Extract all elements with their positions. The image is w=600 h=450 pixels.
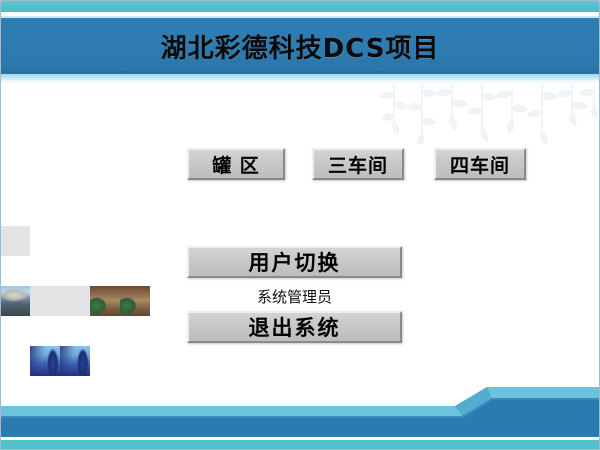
exit-system-button[interactable]: 退出系统 [187, 311, 402, 343]
dcs-project-screen: 湖北彩德科技DCS项目 [0, 0, 600, 450]
hanging-vine-watermark [378, 82, 600, 144]
nav-button-tank-area[interactable]: 罐 区 [187, 148, 285, 180]
placeholder-tile-2 [30, 286, 60, 316]
green-plant-photo-tile-2 [120, 286, 150, 316]
bottom-ribbon-shape [0, 386, 600, 450]
tank-photo-tile [0, 286, 30, 316]
top-teal-accent-bar [0, 0, 600, 12]
user-switch-button[interactable]: 用户切换 [187, 246, 402, 278]
bottom-ribbon [0, 386, 600, 450]
page-title: 湖北彩德科技DCS项目 [0, 18, 600, 74]
nav-button-workshop-3[interactable]: 三车间 [312, 148, 404, 180]
green-plant-photo-tile [90, 286, 120, 316]
blue-tower-photo-tile [30, 346, 60, 376]
nav-button-workshop-4[interactable]: 四车间 [434, 148, 526, 180]
photo-mosaic [0, 226, 160, 406]
current-user-role-label: 系统管理员 [187, 286, 402, 307]
placeholder-tile-3 [60, 286, 90, 316]
blue-tower-photo-tile-2 [60, 346, 90, 376]
placeholder-tile [0, 226, 30, 256]
header-underline-fade [0, 80, 600, 85]
